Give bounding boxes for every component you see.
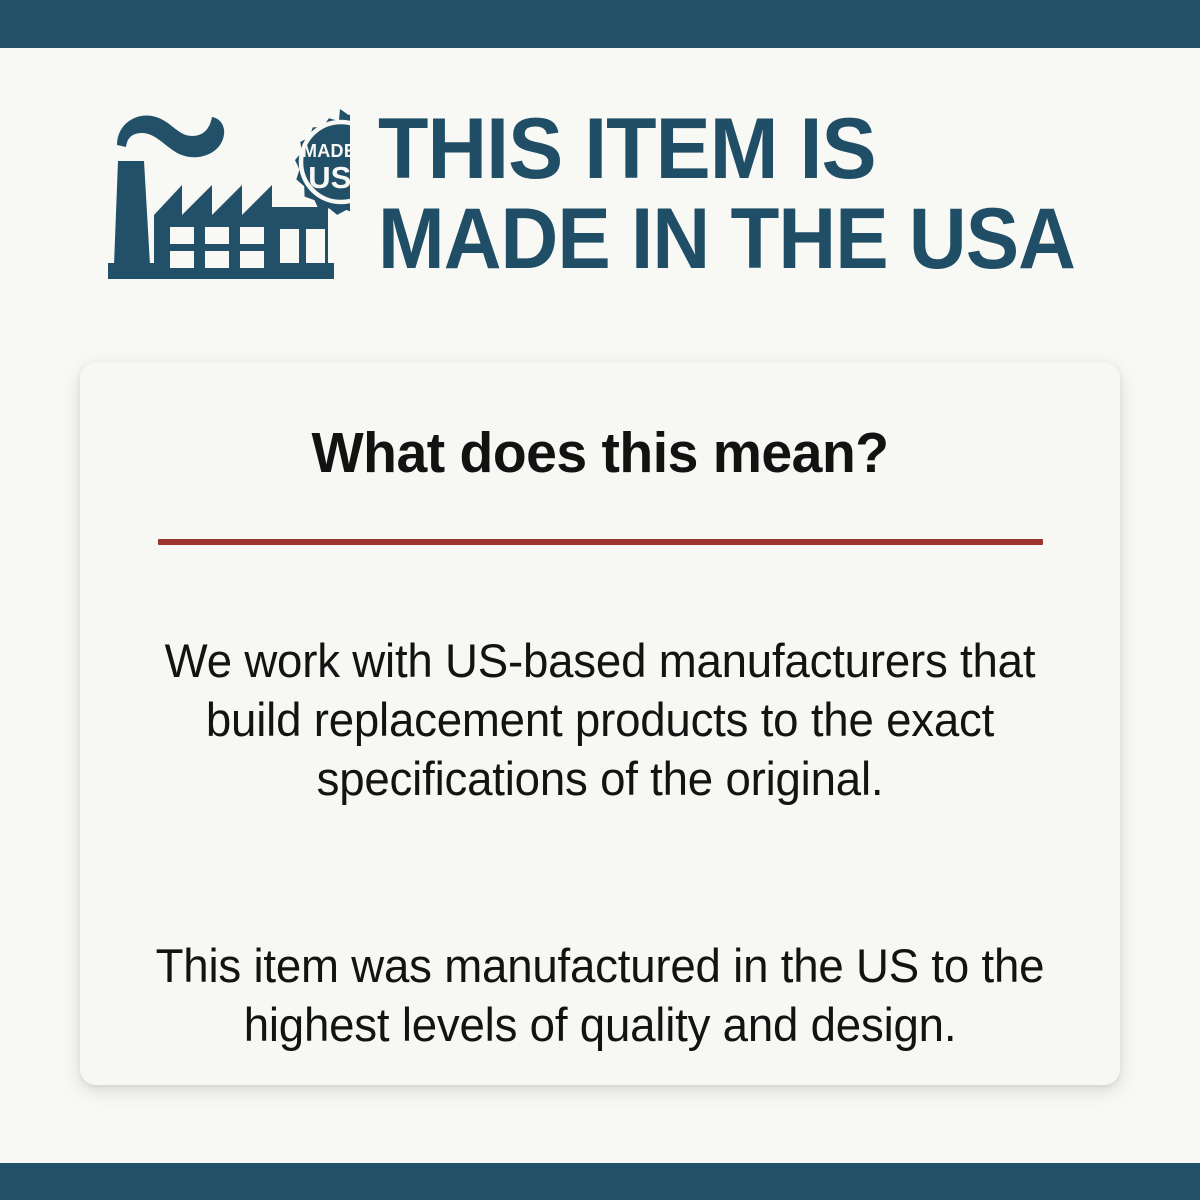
card-body: We work with US-based manufacturers that… — [135, 584, 1065, 1101]
card-heading: What does this mean? — [96, 422, 1105, 484]
factory-icon: MADE IN USA — [100, 103, 350, 288]
bottom-accent-bar — [0, 1163, 1200, 1200]
headline-line-1: THIS ITEM IS — [378, 104, 1136, 194]
badge-made-in-text: MADE IN — [302, 141, 350, 161]
info-card: What does this mean? We work with US-bas… — [80, 362, 1120, 1085]
card-paragraph-1: We work with US-based manufacturers that… — [149, 631, 1051, 808]
badge-usa-text: USA — [308, 160, 350, 195]
card-paragraph-2: This item was manufactured in the US to … — [149, 936, 1051, 1054]
card-divider — [158, 539, 1043, 545]
header-section: MADE IN USA THIS ITEM IS MADE IN THE USA — [0, 48, 1200, 298]
page-root: MADE IN USA THIS ITEM IS MADE IN THE USA… — [0, 0, 1200, 1200]
page-title: THIS ITEM IS MADE IN THE USA — [378, 104, 1168, 284]
headline-line-2: MADE IN THE USA — [378, 194, 1113, 284]
top-accent-bar — [0, 0, 1200, 48]
